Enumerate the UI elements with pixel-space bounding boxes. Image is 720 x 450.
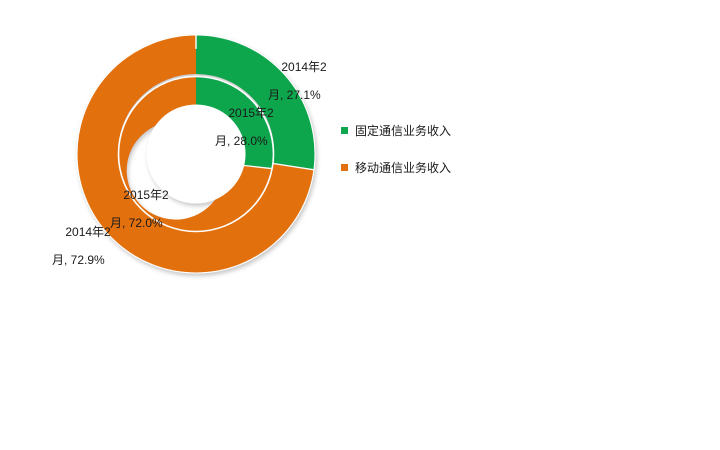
legend-swatch-icon-fixed <box>341 127 348 134</box>
data-label-line2: 月, 27.1% <box>268 88 327 102</box>
data-label-line2: 月, 72.0% <box>110 216 169 230</box>
data-label-outer-mobile-2014: 2014年2 月, 72.9% <box>52 211 111 295</box>
data-label-line2: 月, 72.9% <box>52 253 111 267</box>
doughnut-chart: 2014年2 月, 27.1% 2015年2 月, 28.0% 2015年2 月… <box>0 0 720 450</box>
data-label-outer-fixed-2014: 2014年2 月, 27.1% <box>268 46 327 130</box>
legend-label-fixed: 固定通信业务收入 <box>355 124 451 138</box>
data-label-inner-fixed-2015: 2015年2 月, 28.0% <box>215 92 274 176</box>
data-label-inner-mobile-2015: 2015年2 月, 72.0% <box>110 174 169 258</box>
data-label-line1: 2014年2 <box>65 225 110 239</box>
legend-swatch-icon-mobile <box>341 164 348 171</box>
legend-label-mobile: 移动通信业务收入 <box>355 161 451 175</box>
legend-item-fixed[interactable]: 固定通信业务收入 <box>341 112 521 149</box>
legend-item-mobile[interactable]: 移动通信业务收入 <box>341 149 521 186</box>
data-label-line2: 月, 28.0% <box>215 134 274 148</box>
data-label-line1: 2014年2 <box>281 60 326 74</box>
data-label-line1: 2015年2 <box>123 188 168 202</box>
data-label-line1: 2015年2 <box>228 106 273 120</box>
chart-legend: 固定通信业务收入 移动通信业务收入 <box>341 112 521 186</box>
